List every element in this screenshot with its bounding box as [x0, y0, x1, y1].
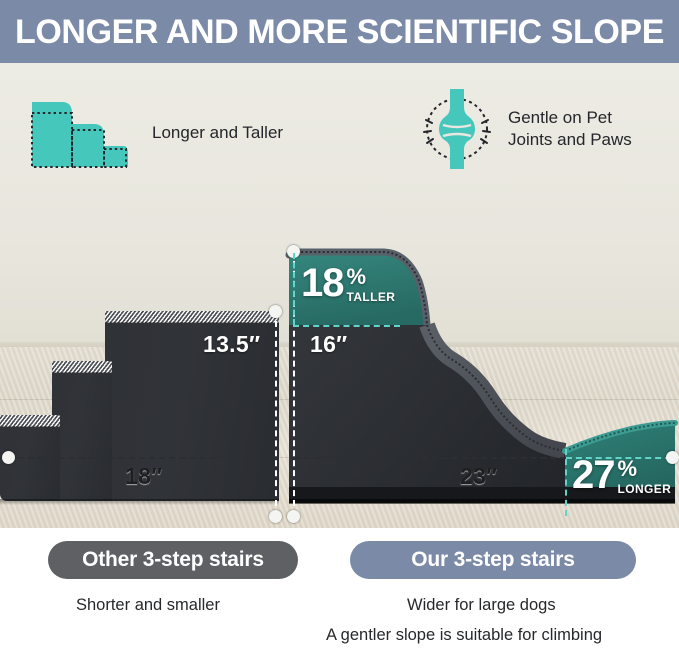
- pet-joint-icon: [420, 89, 494, 169]
- caption-our-2: A gentler slope is suitable for climbing: [326, 626, 602, 645]
- feature-longer-taller: Longer and Taller: [28, 97, 283, 169]
- guide-27-percent-longer: [565, 449, 567, 516]
- measure-line-left-height: [275, 311, 277, 516]
- feature-label: Gentle on Pet Joints and Paws: [508, 107, 632, 151]
- badge-percent: %: [618, 459, 672, 480]
- measure-endpoint: [2, 451, 15, 464]
- pill-other-stairs: Other 3-step stairs: [48, 541, 298, 579]
- measure-endpoint: [287, 510, 300, 523]
- page-title: LONGER AND MORE SCIENTIFIC SLOPE: [0, 0, 679, 63]
- infographic-page: LONGER AND MORE SCIENTIFIC SLOPE Longer …: [0, 0, 679, 657]
- caption-other-1: Shorter and smaller: [76, 596, 220, 615]
- measure-line-left-width: [8, 457, 276, 459]
- caption-our-1: Wider for large dogs: [407, 596, 556, 615]
- product-scene: Longer and Taller Gentle on Pet Joints a…: [0, 63, 679, 528]
- label-other-width: 18″: [125, 463, 163, 490]
- badge-number: 18: [301, 265, 344, 302]
- guide-18-percent-left: [293, 253, 295, 325]
- pill-our-stairs: Our 3-step stairs: [350, 541, 636, 579]
- label-our-height: 16″: [310, 331, 348, 358]
- measure-endpoint: [269, 305, 282, 318]
- badge-word: TALLER: [347, 290, 396, 304]
- badge-number: 27: [572, 457, 615, 494]
- measure-line-right-width-extra: [566, 457, 671, 459]
- measure-endpoint: [269, 510, 282, 523]
- feature-gentle-joints: Gentle on Pet Joints and Paws: [420, 89, 632, 169]
- stairs-icon: [28, 97, 128, 169]
- badge-18-taller: 18 % TALLER: [301, 265, 395, 304]
- feature-label: Longer and Taller: [152, 122, 283, 144]
- comparison-footer: Other 3-step stairs Our 3-step stairs Sh…: [0, 528, 679, 657]
- badge-27-longer: 27 % LONGER: [572, 457, 671, 496]
- badge-percent: %: [347, 267, 396, 288]
- guide-18-percent-taller: [293, 325, 400, 327]
- label-our-width: 23″: [460, 463, 498, 490]
- measure-line-right-width: [294, 457, 566, 459]
- measure-endpoint: [666, 451, 679, 464]
- label-other-height: 13.5″: [203, 331, 260, 358]
- badge-word: LONGER: [618, 482, 672, 496]
